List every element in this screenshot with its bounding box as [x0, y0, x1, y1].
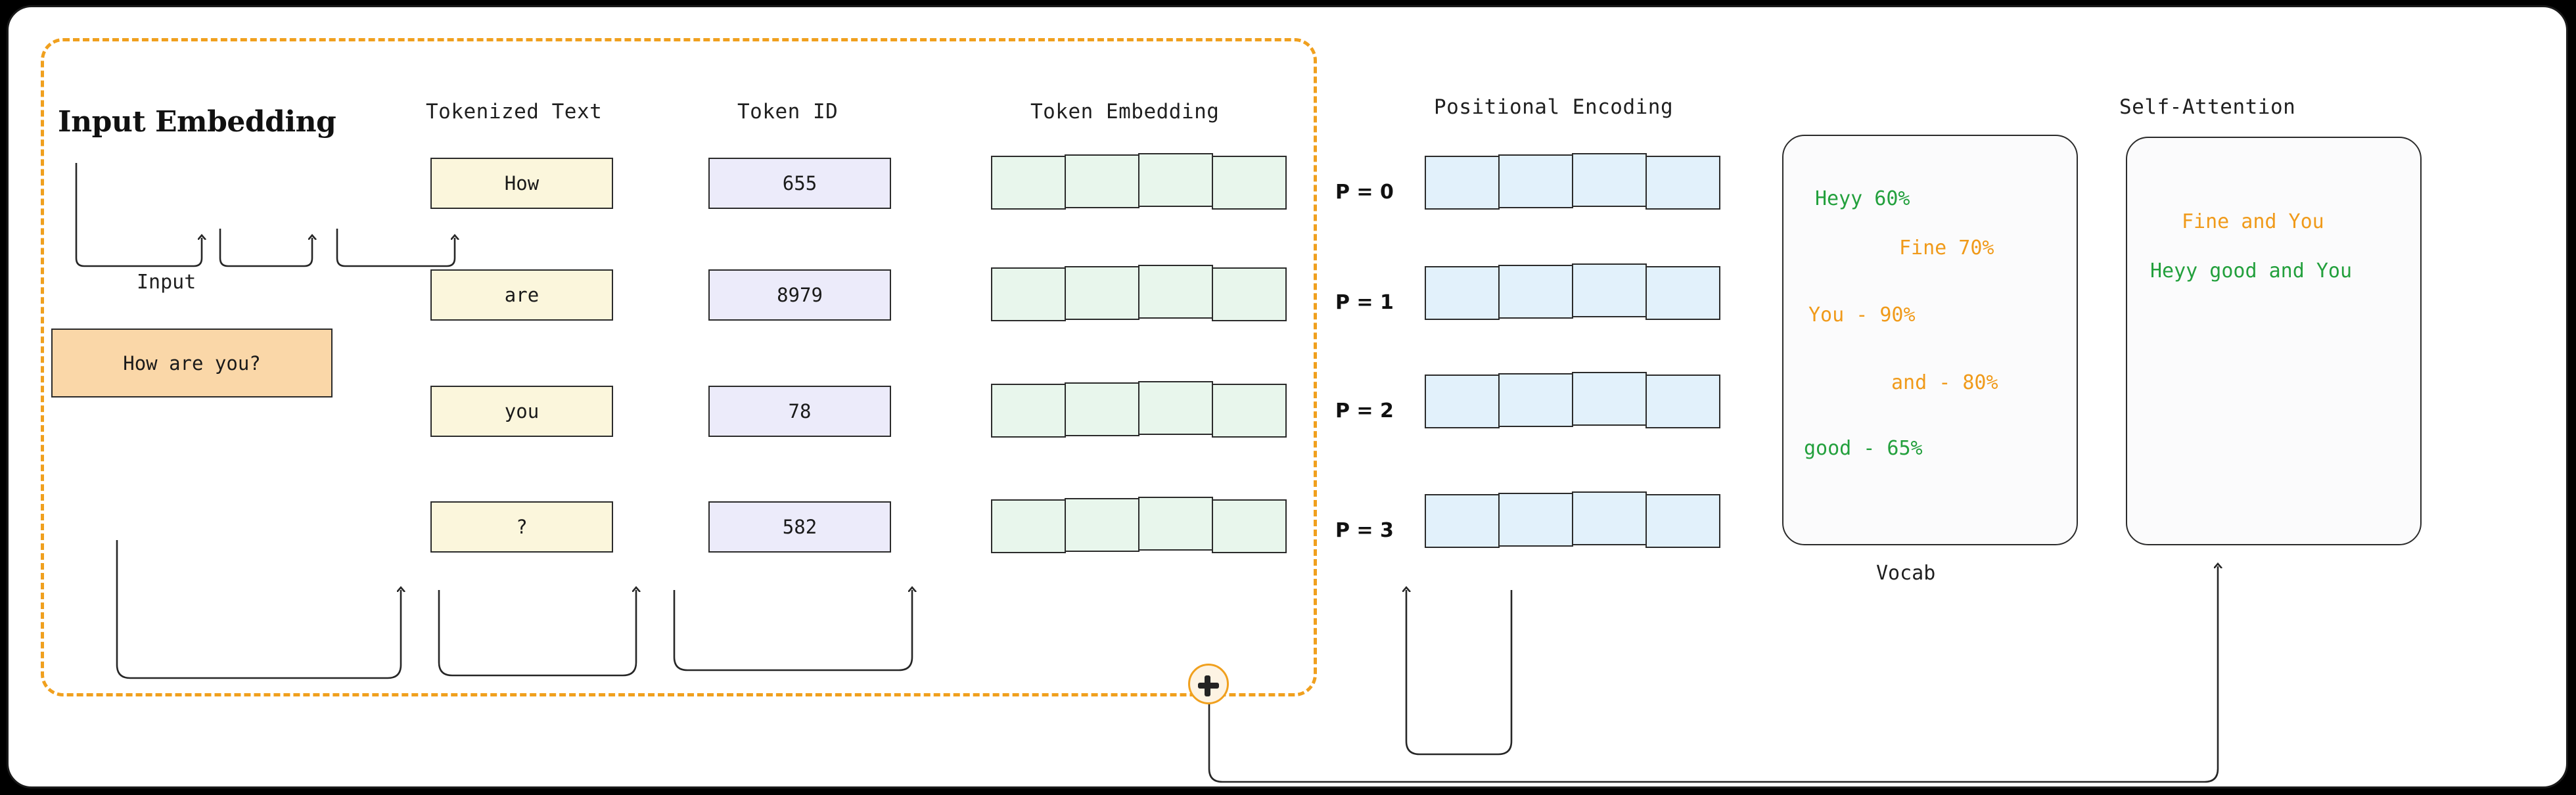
- token-embedding-column-label: Token Embedding: [1030, 100, 1219, 124]
- token-embedding-row-0: [991, 156, 1287, 210]
- positional-cell: [1572, 263, 1647, 317]
- plus-vertical-bar: [1205, 675, 1210, 696]
- tokenized-text-item-3[interactable]: ?: [430, 501, 613, 553]
- positional-cell: [1498, 373, 1573, 427]
- self-attention-panel: [2126, 137, 2422, 545]
- embedding-cell: [991, 267, 1066, 321]
- token-embedding-row-3: [991, 499, 1287, 553]
- embedding-cell: [1212, 384, 1287, 438]
- self-attention-line-0: Fine and You: [2182, 210, 2324, 233]
- add-junction-icon[interactable]: [1188, 664, 1229, 704]
- embedding-cell: [1065, 266, 1139, 320]
- embedding-cell: [1138, 265, 1213, 319]
- token-id-item-2[interactable]: 78: [708, 386, 891, 437]
- positional-cell: [1425, 494, 1500, 548]
- positional-cell: [1572, 491, 1647, 545]
- tokenized-text-item-2[interactable]: you: [430, 386, 613, 437]
- embedding-cell: [1212, 267, 1287, 321]
- positional-encoding-row-0: [1425, 156, 1720, 210]
- positional-cell: [1645, 266, 1720, 320]
- positional-cell: [1425, 266, 1500, 320]
- vocab-caption: Vocab: [1876, 562, 1935, 585]
- vocab-entry-2: You - 90%: [1808, 304, 1916, 327]
- token-embedding-row-2: [991, 384, 1287, 438]
- positional-cell: [1572, 153, 1647, 207]
- token-id-item-3[interactable]: 582: [708, 501, 891, 553]
- vocab-entry-3: and - 80%: [1891, 371, 1998, 394]
- embedding-cell: [1138, 497, 1213, 551]
- position-label-3: P = 3: [1335, 519, 1394, 542]
- token-embedding-row-1: [991, 267, 1287, 321]
- positional-cell: [1645, 375, 1720, 428]
- embedding-cell: [991, 384, 1066, 438]
- page-title: Input Embedding: [58, 105, 336, 139]
- positional-cell: [1498, 493, 1573, 547]
- tokenized-text-column-label: Tokenized Text: [426, 100, 602, 124]
- embedding-cell: [1212, 499, 1287, 553]
- tokenized-text-item-1[interactable]: are: [430, 269, 613, 321]
- position-label-0: P = 0: [1335, 181, 1394, 204]
- positional-encoding-row-1: [1425, 266, 1720, 320]
- tokenized-text-item-0[interactable]: How: [430, 158, 613, 209]
- positional-cell: [1572, 372, 1647, 426]
- diagram-canvas: Input Embedding Input How are you? Token…: [0, 0, 2576, 795]
- vocab-entry-4: good - 65%: [1804, 437, 1923, 460]
- positional-encoding-row-3: [1425, 494, 1720, 548]
- self-attention-line-1: Heyy good and You: [2150, 260, 2352, 283]
- embedding-cell: [1065, 382, 1139, 436]
- positional-cell: [1425, 156, 1500, 210]
- positional-cell: [1645, 494, 1720, 548]
- embedding-cell: [1065, 154, 1139, 208]
- vocab-entry-1: Fine 70%: [1899, 237, 1994, 260]
- embedding-cell: [1212, 156, 1287, 210]
- positional-cell: [1498, 154, 1573, 208]
- positional-encoding-row-2: [1425, 375, 1720, 428]
- positional-cell: [1645, 156, 1720, 210]
- embedding-cell: [991, 499, 1066, 553]
- positional-cell: [1498, 265, 1573, 319]
- embedding-cell: [1065, 498, 1139, 552]
- vocab-entry-0: Heyy 60%: [1815, 187, 1910, 210]
- input-text-box[interactable]: How are you?: [51, 329, 333, 397]
- embedding-cell: [1138, 381, 1213, 435]
- positional-encoding-column-label: Positional Encoding: [1434, 95, 1673, 119]
- position-label-2: P = 2: [1335, 399, 1394, 422]
- embedding-cell: [1138, 153, 1213, 207]
- self-attention-label: Self-Attention: [2119, 95, 2295, 119]
- token-id-item-1[interactable]: 8979: [708, 269, 891, 321]
- token-id-item-0[interactable]: 655: [708, 158, 891, 209]
- token-id-column-label: Token ID: [737, 100, 838, 124]
- input-column-label: Input: [137, 271, 196, 294]
- embedding-cell: [991, 156, 1066, 210]
- positional-cell: [1425, 375, 1500, 428]
- position-label-1: P = 1: [1335, 291, 1394, 314]
